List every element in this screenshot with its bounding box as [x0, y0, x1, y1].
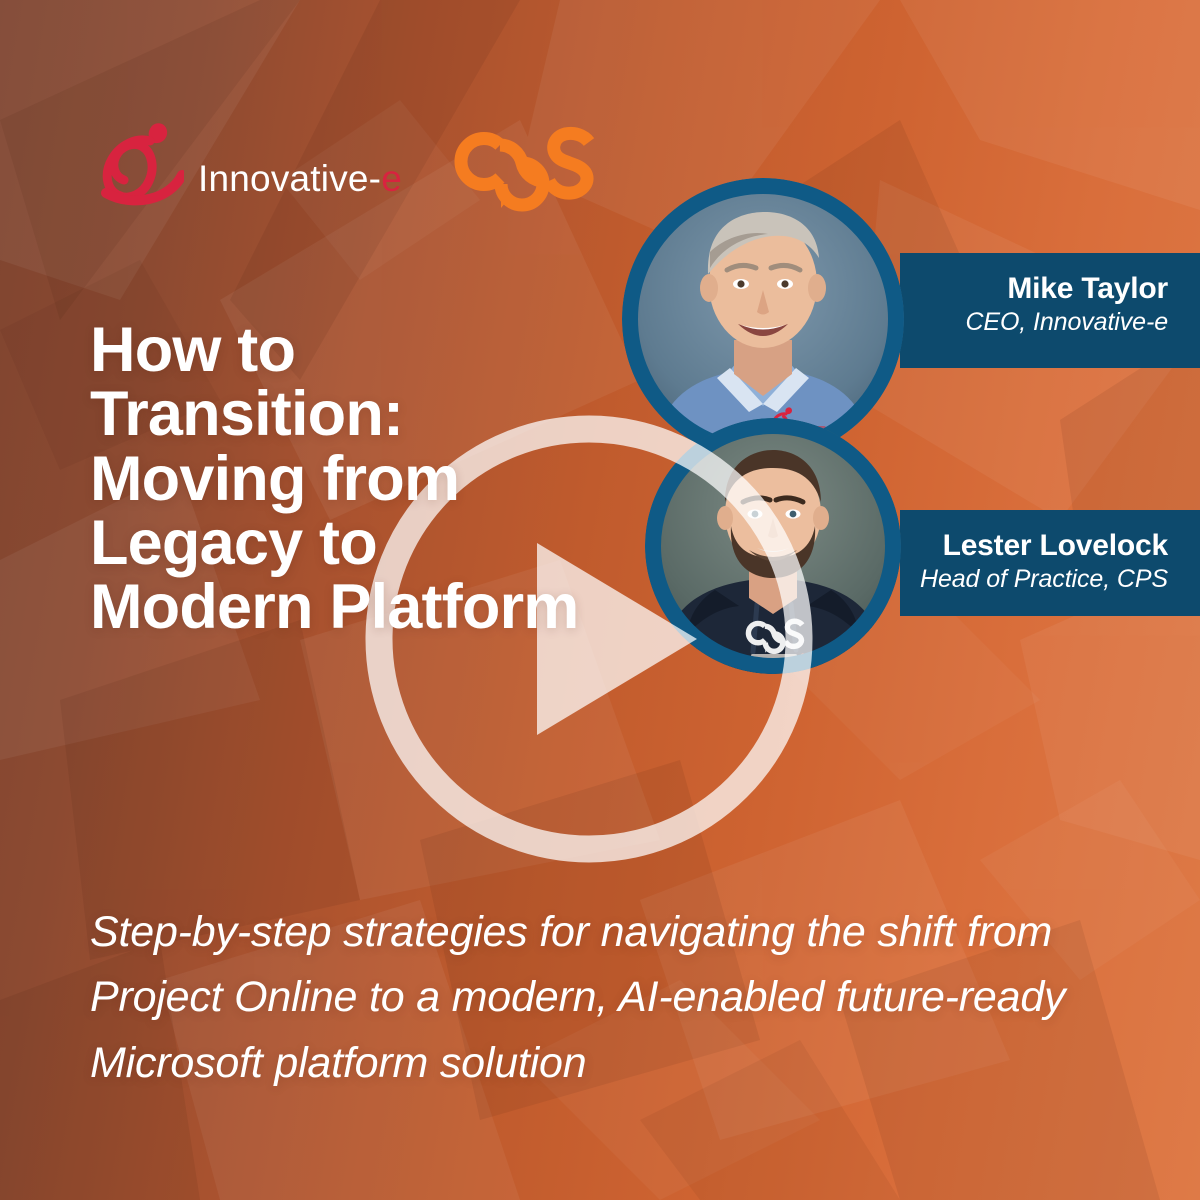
subtitle-line-3: Microsoft platform solution	[90, 1031, 1150, 1096]
headline-line-2: Transition:	[90, 382, 730, 446]
speaker-role: CEO, Innovative-e	[900, 306, 1168, 339]
subtitle-line-2: Project Online to a modern, AI-enabled f…	[90, 965, 1150, 1030]
logo-row: Innovative-e	[98, 116, 596, 212]
subtitle-line-1: Step-by-step strategies for navigating t…	[90, 900, 1150, 965]
innovative-e-word-main: Innovative-	[198, 158, 381, 199]
speaker-name-bar: Mike Taylor CEO, Innovative-e	[900, 253, 1200, 368]
page-title: How to Transition: Moving from Legacy to…	[90, 318, 730, 639]
headline-line-5: Modern Platform	[90, 575, 730, 639]
speaker-name-bar: Lester Lovelock Head of Practice, CPS	[900, 510, 1200, 616]
innovative-e-wordmark: Innovative-e	[198, 160, 402, 209]
headline-line-3: Moving from	[90, 447, 730, 511]
subtitle: Step-by-step strategies for navigating t…	[90, 900, 1150, 1096]
innovative-e-logo[interactable]: Innovative-e	[98, 119, 402, 209]
headline-line-4: Legacy to	[90, 511, 730, 575]
headline-line-1: How to	[90, 318, 730, 382]
innovative-e-brushstroke-icon	[98, 119, 184, 209]
cps-logo-icon[interactable]	[448, 116, 596, 212]
speaker-name: Mike Taylor	[900, 271, 1168, 306]
innovative-e-word-accent: e	[381, 158, 402, 199]
speaker-name: Lester Lovelock	[900, 528, 1168, 563]
webinar-promo-card: Innovative-e How to Transition: Moving f…	[0, 0, 1200, 1200]
speaker-role: Head of Practice, CPS	[900, 563, 1168, 596]
